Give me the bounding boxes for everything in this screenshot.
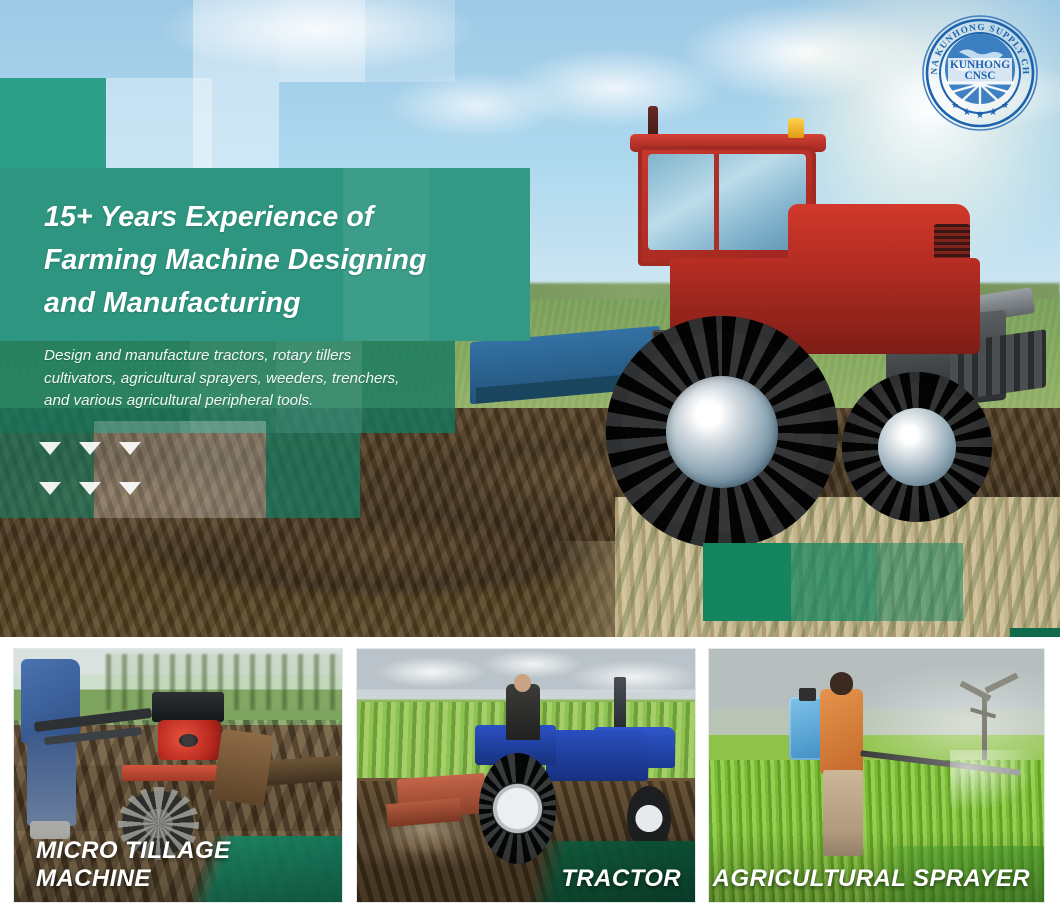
svg-text:★: ★ <box>1001 100 1009 110</box>
background-trees <box>106 654 342 710</box>
decor-edge-bar <box>1010 628 1060 637</box>
svg-text:★: ★ <box>963 107 972 118</box>
company-logo: CHINA KUNHONG SUPPLY CHAIN KUNHONG CNSC … <box>919 12 1041 134</box>
triangle-down-icon <box>79 442 101 455</box>
spray-mist <box>950 750 1037 811</box>
worker-torso <box>820 689 864 775</box>
product-card-row: MICRO TILLAGE MACHINE TRACTOR <box>0 637 1060 903</box>
driver-head <box>514 674 531 692</box>
banner-page: 15+ Years Experience of Farming Machine … <box>0 0 1060 903</box>
tractor-rear-wheel <box>606 316 838 548</box>
hero-banner: 15+ Years Experience of Farming Machine … <box>0 0 1060 637</box>
logo-center-line-2: CNSC <box>964 70 995 82</box>
triangle-down-icon <box>39 482 61 495</box>
card-label-agricultural-sprayer: AGRICULTURAL SPRAYER <box>709 865 1044 893</box>
decor-square-1 <box>0 78 106 168</box>
svg-text:★: ★ <box>989 107 998 118</box>
tiller-fuel-tank <box>152 692 224 722</box>
triangle-down-icon <box>79 482 101 495</box>
triangle-down-icon <box>39 442 61 455</box>
tiller-rear-attachment <box>213 729 275 806</box>
decor-square-br-3 <box>877 543 963 621</box>
svg-text:★: ★ <box>976 110 985 121</box>
headline-line-2: Farming Machine Designing <box>44 239 544 282</box>
decor-square-5 <box>365 0 455 82</box>
decor-square-2 <box>106 78 212 168</box>
page-title: 15+ Years Experience of Farming Machine … <box>44 196 544 325</box>
tractor-body <box>546 730 647 781</box>
card-label-micro-tillage-machine: MICRO TILLAGE MACHINE <box>14 837 342 893</box>
product-card-micro-tillage-machine[interactable]: MICRO TILLAGE MACHINE <box>13 648 343 903</box>
arrow-decoration-grid <box>30 428 150 508</box>
driver-torso <box>506 684 540 740</box>
headline-line-3: and Manufacturing <box>44 282 544 325</box>
operator-legs <box>27 735 76 826</box>
banner-subtext: Design and manufacture tractors, rotary … <box>44 345 474 413</box>
headline-line-1: 15+ Years Experience of <box>44 196 544 239</box>
triangle-down-icon <box>119 482 141 495</box>
circular-seal-logo-icon: CHINA KUNHONG SUPPLY CHAIN KUNHONG CNSC … <box>919 12 1041 134</box>
svg-text:★: ★ <box>951 100 959 110</box>
tractor-beacon-light-icon <box>788 118 804 138</box>
tractor-front-wheel <box>842 372 992 522</box>
subtext-line-3: and various agricultural peripheral tool… <box>44 390 474 413</box>
tree-branch <box>984 672 1018 692</box>
decor-square-br-1 <box>703 543 791 621</box>
product-card-agricultural-sprayer[interactable]: AGRICULTURAL SPRAYER <box>708 648 1045 903</box>
tiller-engine-icon <box>158 720 220 760</box>
sprayer-tank-cap <box>799 688 816 701</box>
worker-head <box>830 672 853 695</box>
decor-square-4 <box>279 0 365 82</box>
arrow-block-bg-4 <box>266 433 360 518</box>
tractor-cab-glass <box>648 154 806 250</box>
red-tractor-illustration <box>520 120 1040 550</box>
subtext-line-2: cultivators, agricultural sprayers, weed… <box>44 368 474 391</box>
product-card-tractor[interactable]: TRACTOR <box>356 648 696 903</box>
subtext-line-1: Design and manufacture tractors, rotary … <box>44 345 474 368</box>
triangle-down-icon <box>119 442 141 455</box>
arrow-block-bg-3 <box>180 421 266 518</box>
card-label-tractor: TRACTOR <box>357 865 695 893</box>
decor-square-br-2 <box>791 543 877 621</box>
